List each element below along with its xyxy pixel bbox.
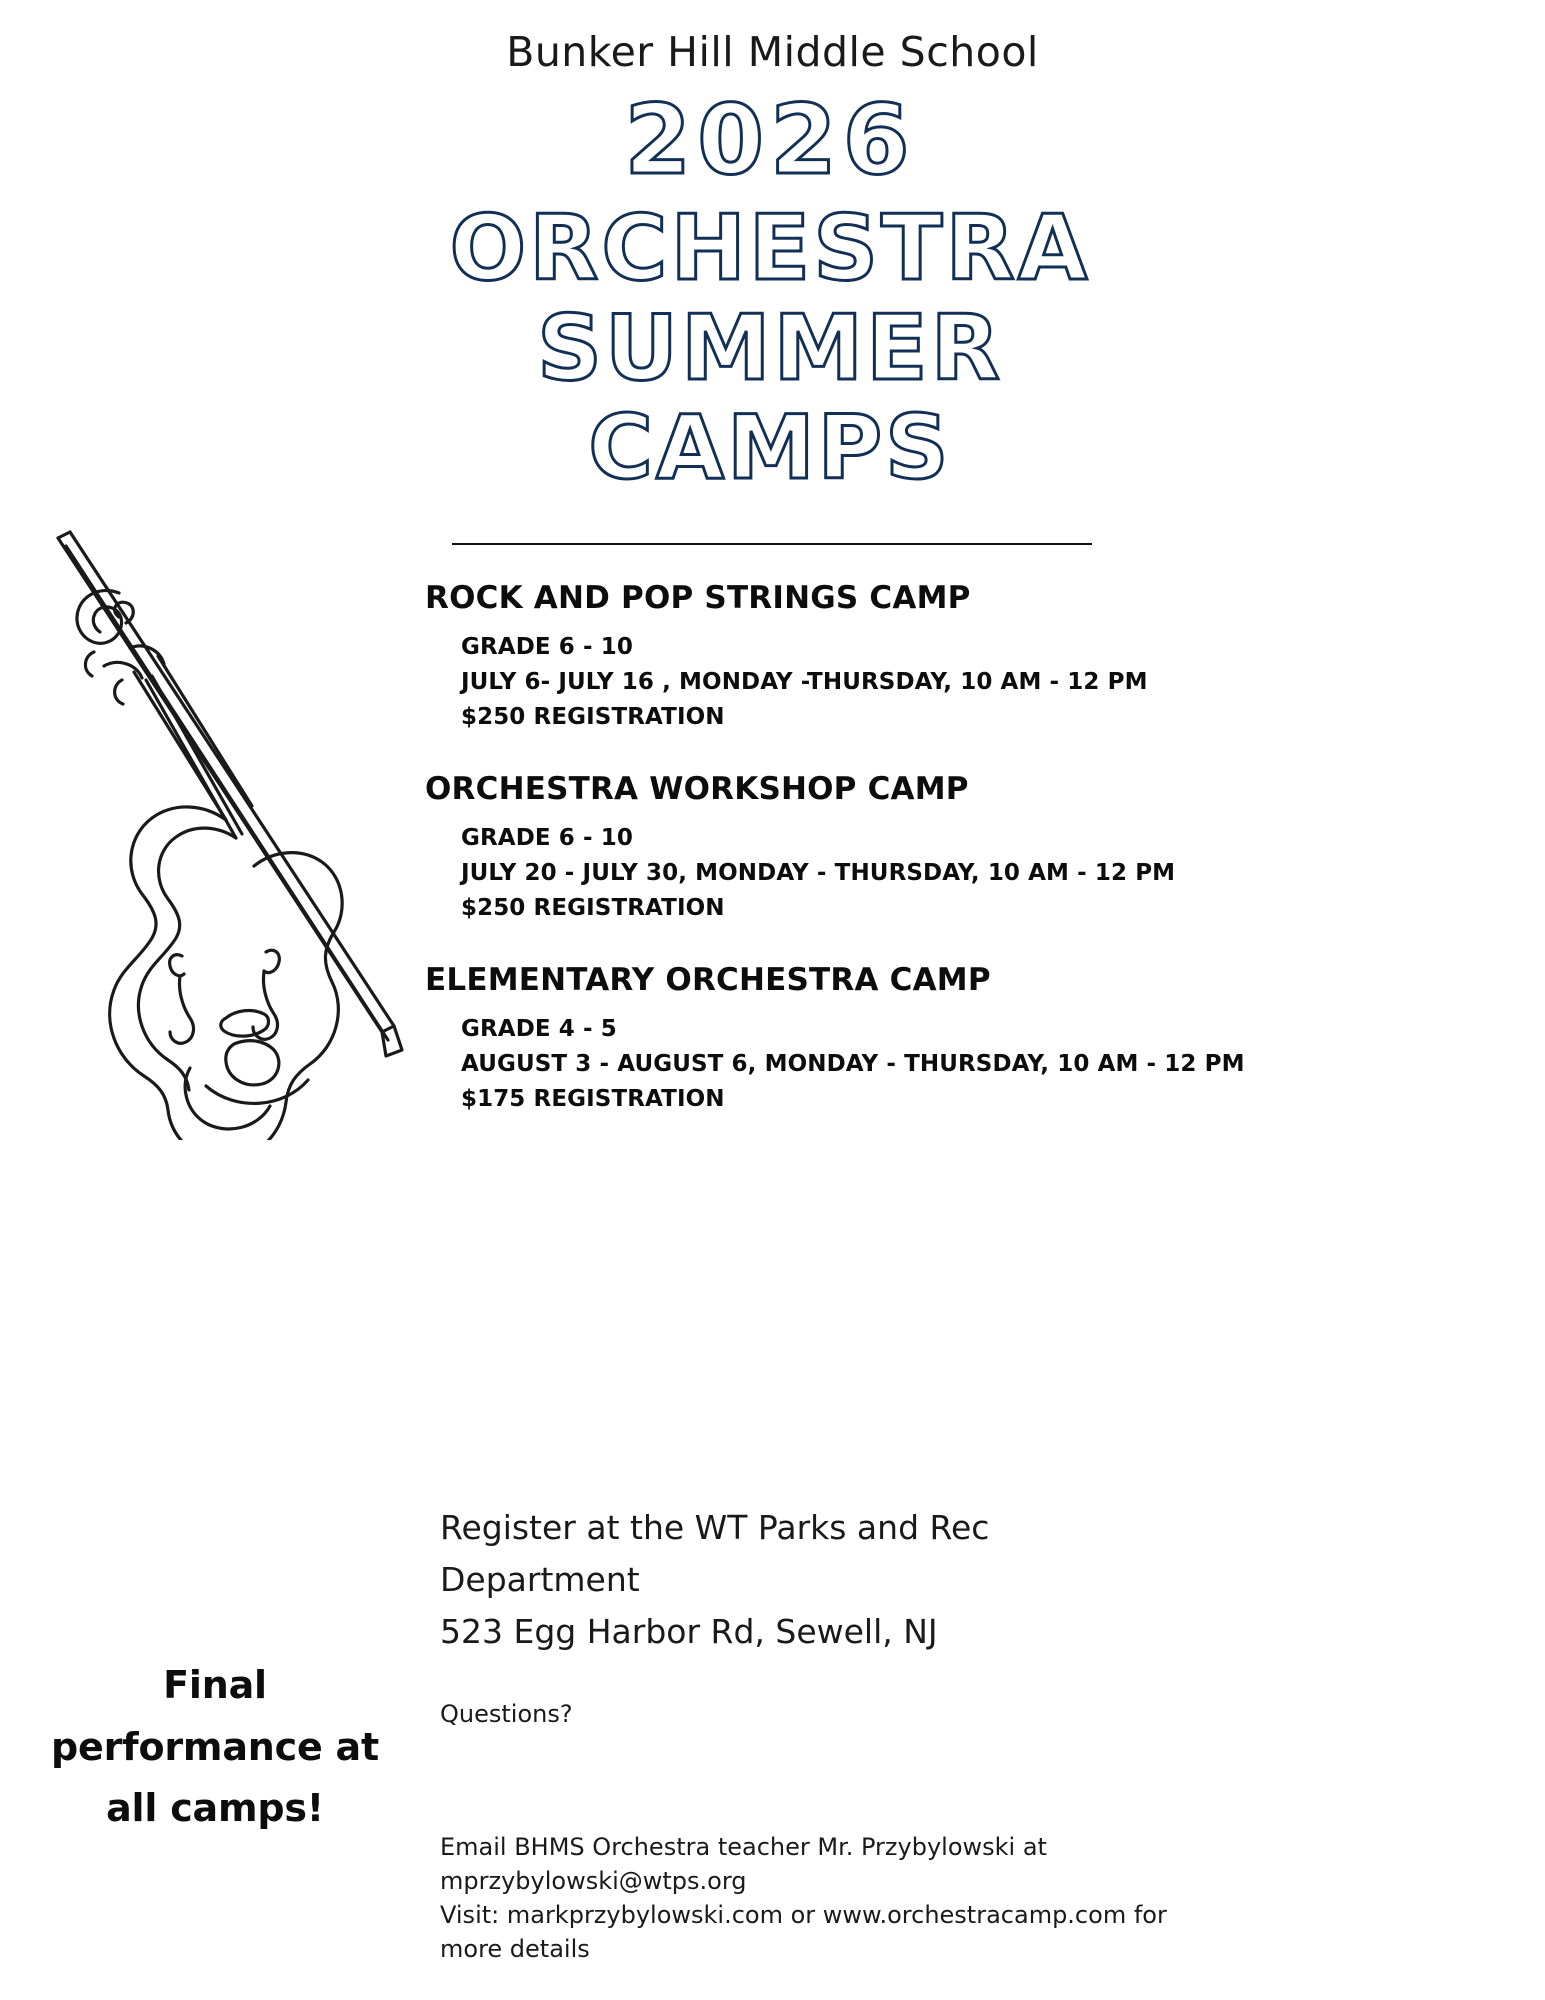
camp-price: $250 REGISTRATION bbox=[461, 891, 1515, 926]
flyer-title: 2026 ORCHESTRA SUMMER CAMPS bbox=[430, 92, 1110, 502]
camp-grade: GRADE 6 - 10 bbox=[461, 821, 1515, 856]
callout-line-2: performance at bbox=[30, 1717, 400, 1779]
camp-price: $175 REGISTRATION bbox=[461, 1082, 1515, 1117]
camp-item: ROCK AND POP STRINGS CAMP GRADE 6 - 10 J… bbox=[425, 580, 1515, 735]
title-year: 2026 bbox=[430, 92, 1110, 188]
register-line-2: Department bbox=[440, 1554, 1200, 1606]
final-performance-callout: Final performance at all camps! bbox=[30, 1655, 400, 1840]
register-address: 523 Egg Harbor Rd, Sewell, NJ bbox=[440, 1606, 1200, 1658]
camp-dates: JULY 6- JULY 16 , MONDAY -THURSDAY, 10 A… bbox=[461, 665, 1515, 700]
school-name: Bunker Hill Middle School bbox=[0, 28, 1545, 76]
registration-info: Register at the WT Parks and Rec Departm… bbox=[440, 1502, 1200, 1658]
camp-list: ROCK AND POP STRINGS CAMP GRADE 6 - 10 J… bbox=[425, 580, 1515, 1117]
questions-label: Questions? bbox=[440, 1700, 573, 1728]
camp-title: ROCK AND POP STRINGS CAMP bbox=[425, 580, 1515, 616]
camp-item: ORCHESTRA WORKSHOP CAMP GRADE 6 - 10 JUL… bbox=[425, 771, 1515, 926]
callout-line-3: all camps! bbox=[30, 1778, 400, 1840]
register-line-1: Register at the WT Parks and Rec bbox=[440, 1502, 1200, 1554]
callout-line-1: Final bbox=[30, 1655, 400, 1717]
title-line-orchestra: ORCHESTRA bbox=[430, 204, 1110, 294]
contact-email-intro: Email BHMS Orchestra teacher Mr. Przybyl… bbox=[440, 1830, 1200, 1864]
violin-illustration bbox=[30, 520, 430, 1140]
contact-info: Email BHMS Orchestra teacher Mr. Przybyl… bbox=[440, 1830, 1200, 1966]
camp-price: $250 REGISTRATION bbox=[461, 700, 1515, 735]
contact-email-address[interactable]: mprzybylowski@wtps.org bbox=[440, 1864, 1200, 1898]
title-line-summer: SUMMER bbox=[430, 304, 1110, 394]
contact-websites[interactable]: Visit: markprzybylowski.com or www.orche… bbox=[440, 1898, 1200, 1932]
camp-title: ELEMENTARY ORCHESTRA CAMP bbox=[425, 962, 1515, 998]
title-line-camps: CAMPS bbox=[430, 404, 1110, 492]
camp-title: ORCHESTRA WORKSHOP CAMP bbox=[425, 771, 1515, 807]
header-divider bbox=[452, 543, 1092, 545]
flyer-page: Bunker Hill Middle School 2026 ORCHESTRA… bbox=[0, 0, 1545, 2000]
camp-dates: AUGUST 3 - AUGUST 6, MONDAY - THURSDAY, … bbox=[461, 1047, 1515, 1082]
camp-item: ELEMENTARY ORCHESTRA CAMP GRADE 4 - 5 AU… bbox=[425, 962, 1515, 1117]
camp-dates: JULY 20 - JULY 30, MONDAY - THURSDAY, 10… bbox=[461, 856, 1515, 891]
camp-grade: GRADE 4 - 5 bbox=[461, 1012, 1515, 1047]
camp-grade: GRADE 6 - 10 bbox=[461, 630, 1515, 665]
contact-websites-cont: more details bbox=[440, 1932, 1200, 1966]
